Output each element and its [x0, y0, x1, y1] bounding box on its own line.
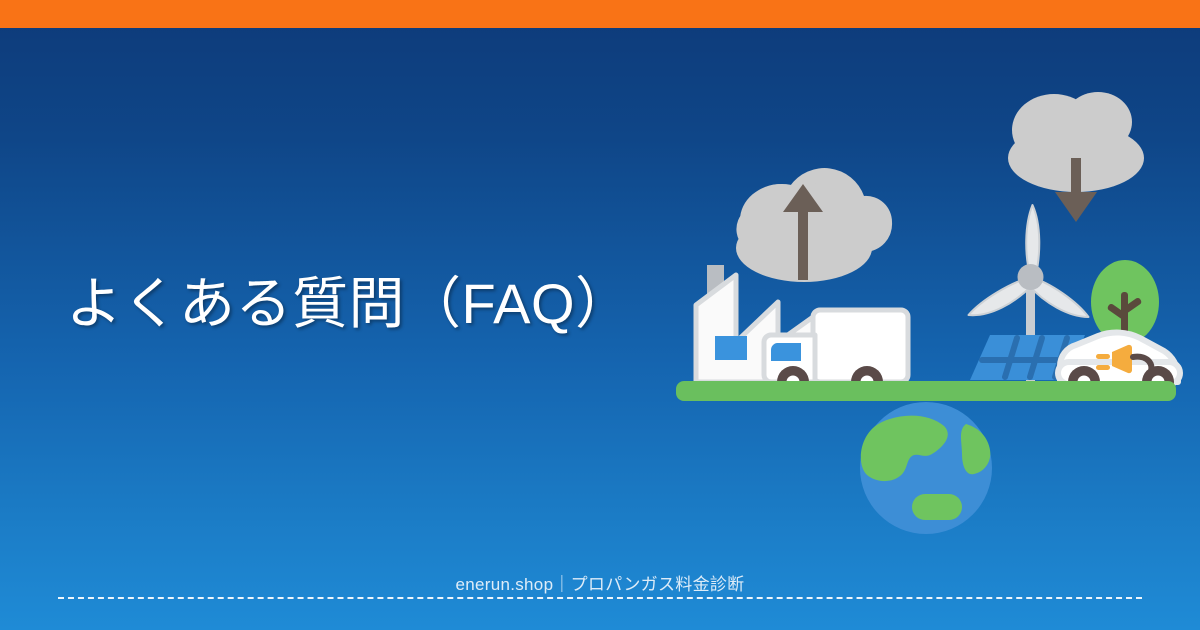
footer-divider [58, 597, 1142, 599]
page-title: よくある質問（FAQ） [66, 268, 666, 340]
eco-energy-illustration [660, 80, 1190, 550]
ground-bar [676, 381, 1176, 401]
top-accent-bar [0, 0, 1200, 28]
cloud-absorption-down [1008, 92, 1144, 222]
cloud-emission-up [736, 168, 892, 282]
slide-root: よくある質問（FAQ） [0, 0, 1200, 630]
footer-credit: enerun.shop｜プロパンガス料金診断 [0, 574, 1200, 596]
earth-globe [860, 402, 992, 534]
